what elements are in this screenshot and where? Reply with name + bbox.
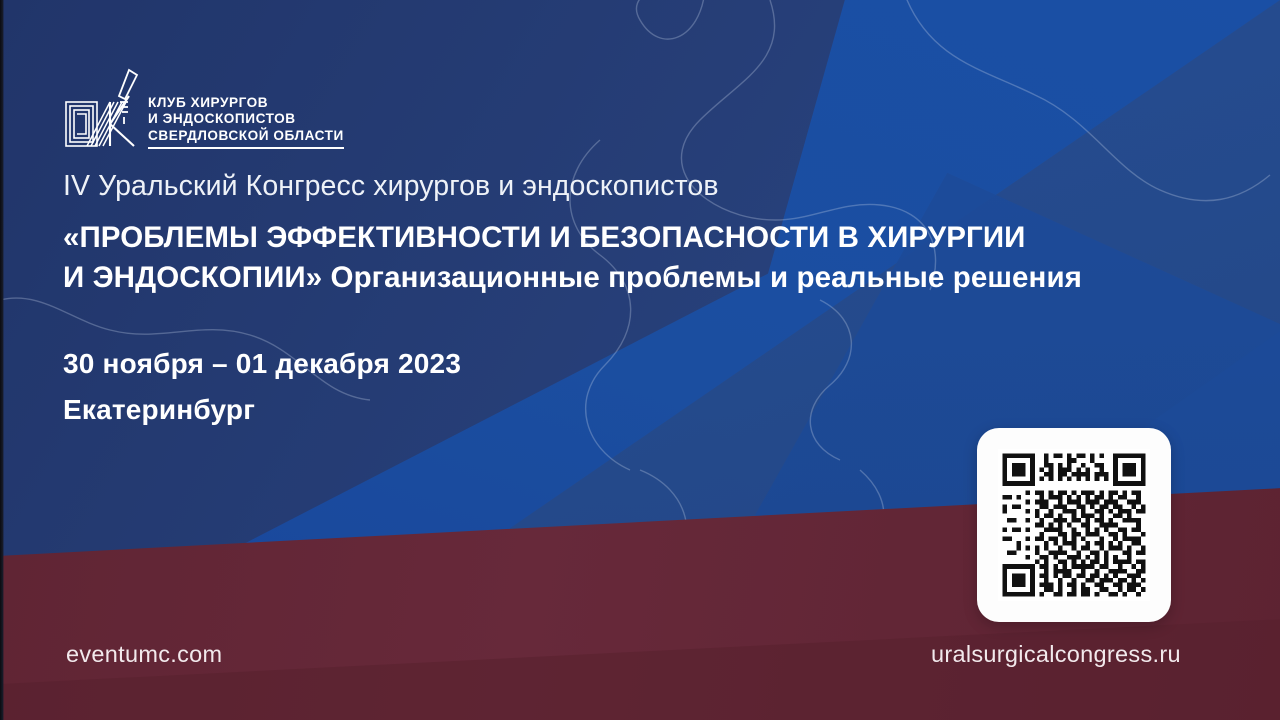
qr-code-card[interactable]	[977, 428, 1171, 622]
qr-code-icon[interactable]	[998, 449, 1150, 601]
site-url-left[interactable]: eventumc.com	[66, 641, 222, 668]
logo-underline	[148, 147, 344, 149]
event-dates: 30 ноября – 01 декабря 2023	[63, 340, 1213, 388]
logo-line-1: КЛУБ ХИРУРГОВ	[148, 95, 344, 111]
headline-block: IV Уральский Конгресс хирургов и эндоско…	[63, 168, 1213, 432]
event-city: Екатеринбург	[63, 388, 1213, 432]
event-title: «ПРОБЛЕМЫ ЭФФЕКТИВНОСТИ И БЕЗОПАСНОСТИ В…	[63, 218, 1213, 298]
site-url-right[interactable]: uralsurgicalcongress.ru	[931, 641, 1181, 668]
congress-banner: КЛУБ ХИРУРГОВ И ЭНДОСКОПИСТОВ СВЕРДЛОВСК…	[0, 0, 1280, 720]
logo-line-2: И ЭНДОСКОПИСТОВ	[148, 111, 344, 127]
left-edge-bar	[0, 0, 4, 720]
event-title-line-2: И ЭНДОСКОПИИ» Организационные проблемы и…	[63, 258, 1213, 298]
logo-line-3: СВЕРДЛОВСКОЙ ОБЛАСТИ	[148, 128, 344, 144]
surgeons-club-emblem-icon	[63, 66, 139, 150]
event-kicker: IV Уральский Конгресс хирургов и эндоско…	[63, 168, 1213, 204]
club-logo: КЛУБ ХИРУРГОВ И ЭНДОСКОПИСТОВ СВЕРДЛОВСК…	[63, 66, 344, 150]
event-title-line-1: «ПРОБЛЕМЫ ЭФФЕКТИВНОСТИ И БЕЗОПАСНОСТИ В…	[63, 218, 1213, 258]
